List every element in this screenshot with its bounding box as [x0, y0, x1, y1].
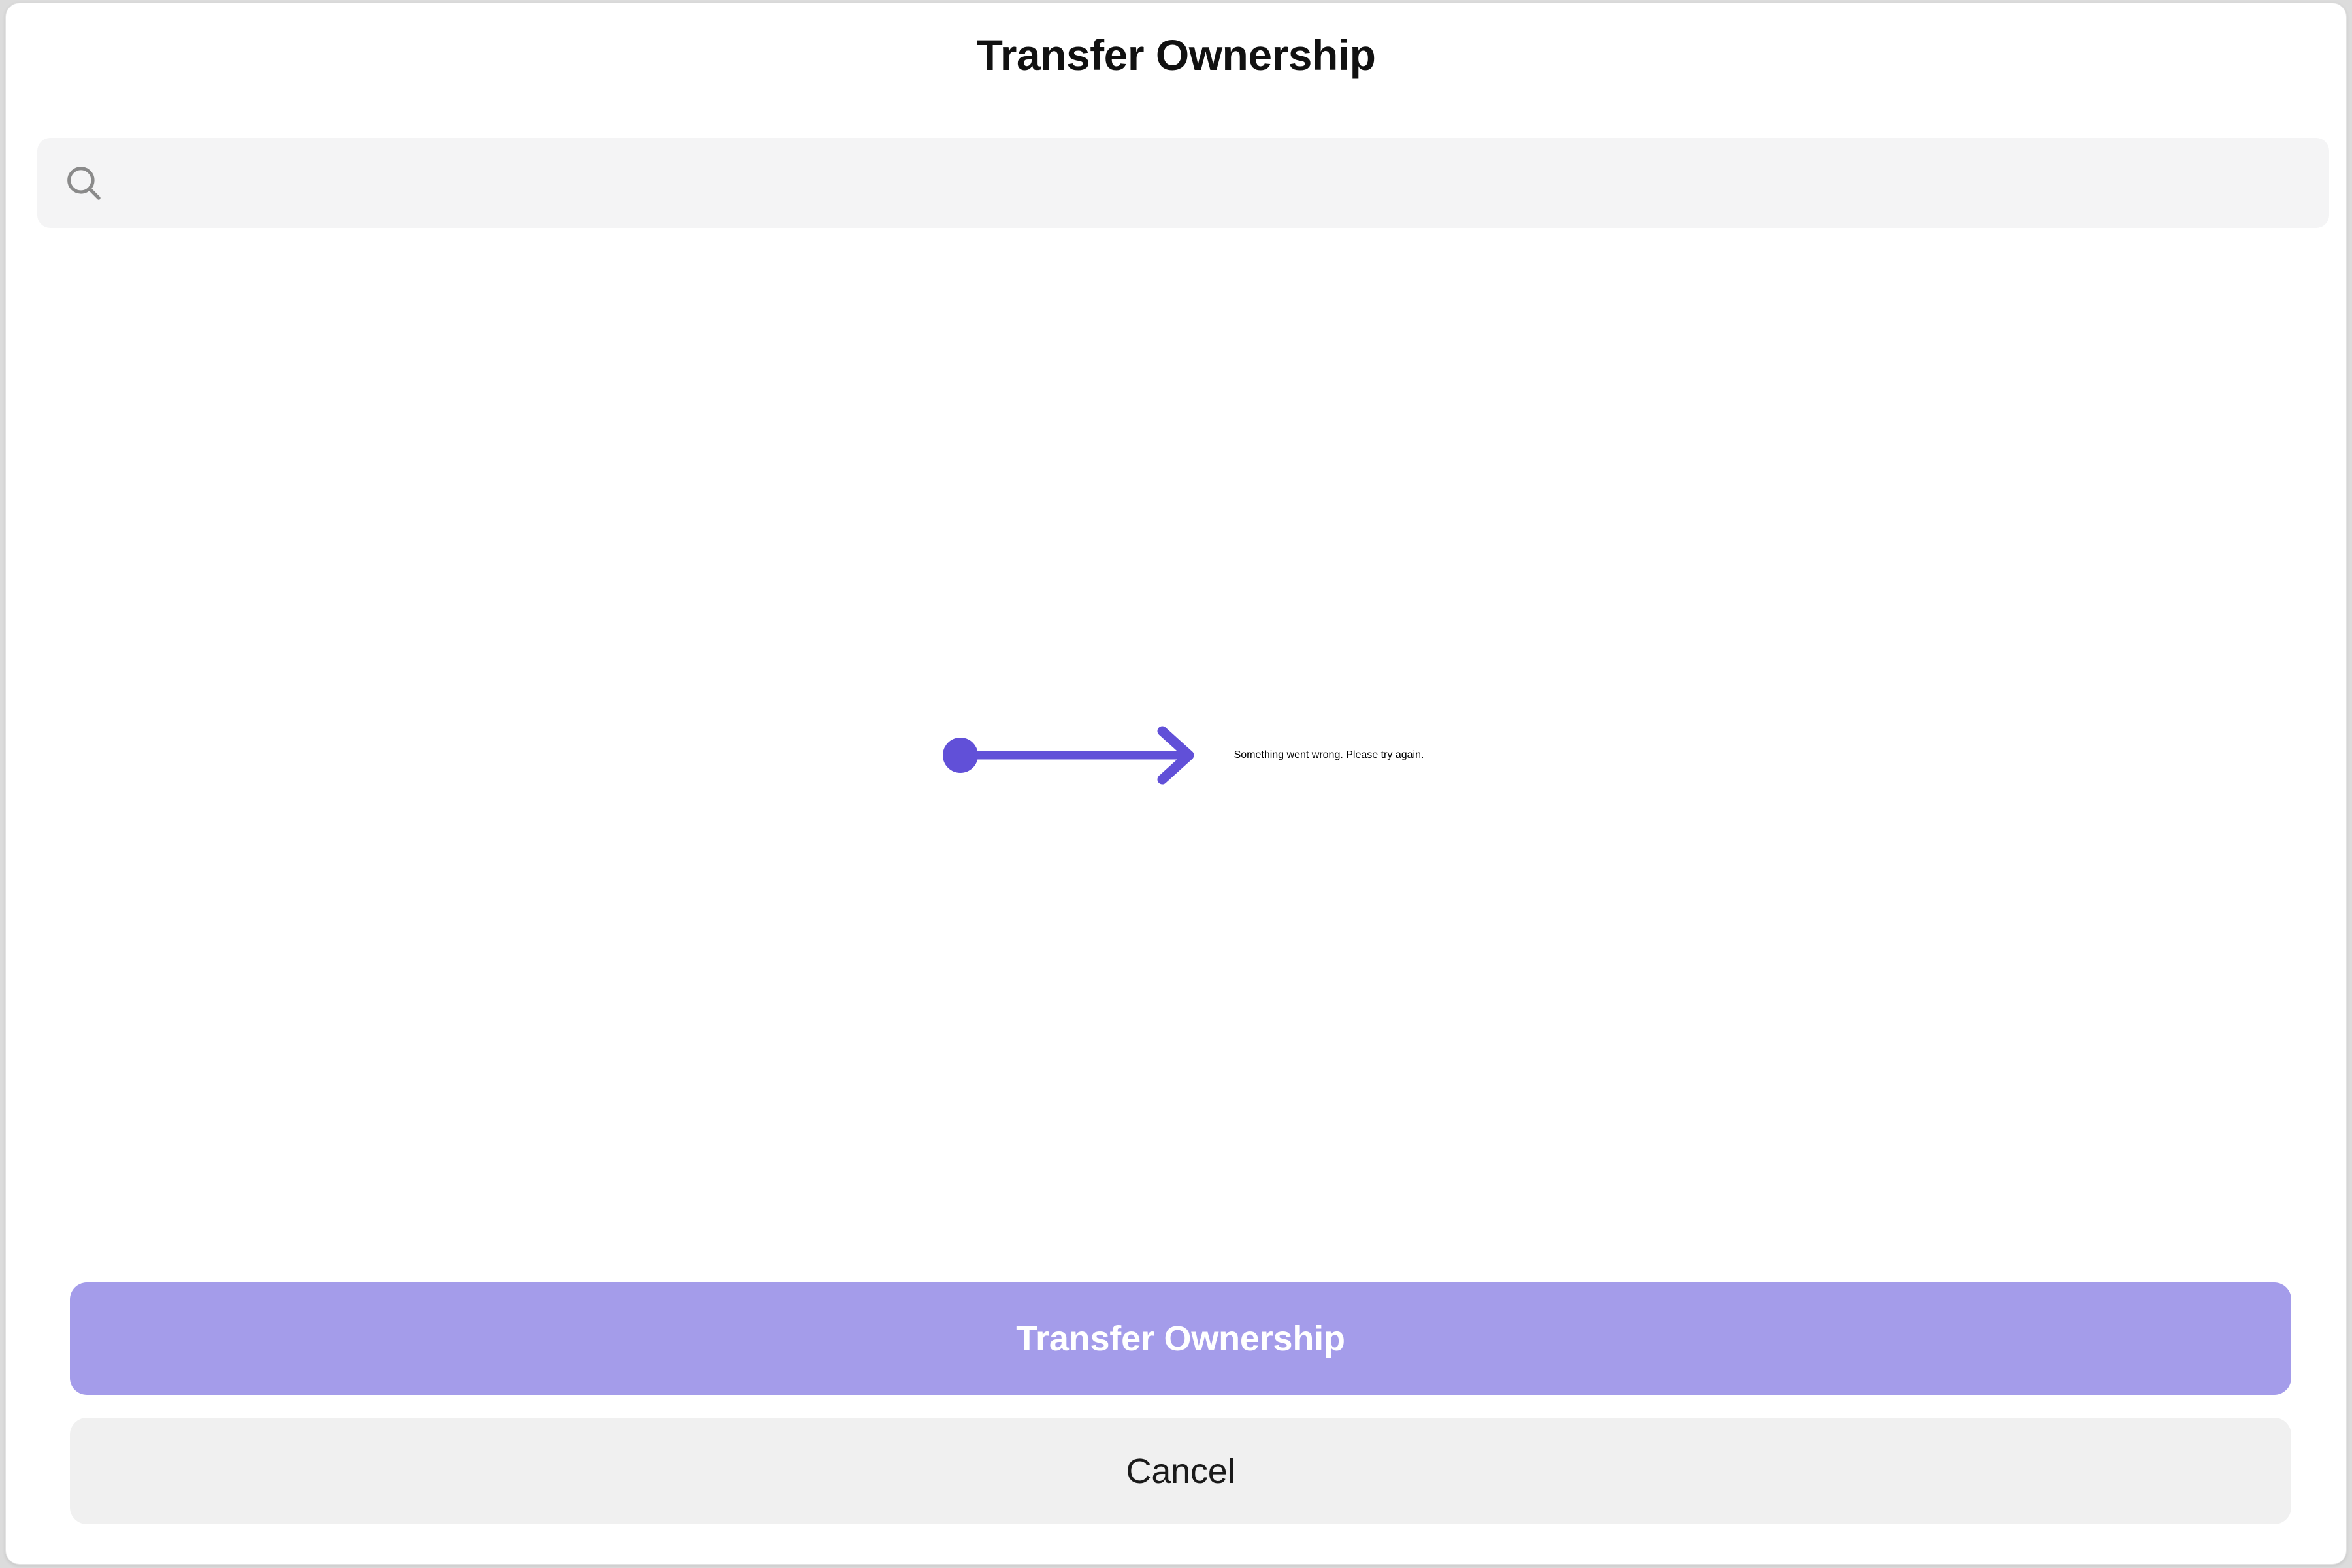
- search-input[interactable]: [120, 138, 2303, 228]
- page-title: Transfer Ownership: [6, 33, 2346, 76]
- error-state: Something went wrong. Please try again.: [943, 726, 1424, 785]
- transfer-ownership-button[interactable]: Transfer Ownership: [70, 1282, 2291, 1395]
- dialog-body: Something went wrong. Please try again.: [37, 238, 2329, 1258]
- cancel-button[interactable]: Cancel: [70, 1418, 2291, 1524]
- arrow-right-icon: [943, 726, 1204, 785]
- error-message: Something went wrong. Please try again.: [1234, 749, 1424, 761]
- search-icon: [62, 161, 105, 204]
- transfer-ownership-dialog: Transfer Ownership Something went wrong.…: [5, 3, 2347, 1565]
- search-bar[interactable]: [37, 138, 2329, 228]
